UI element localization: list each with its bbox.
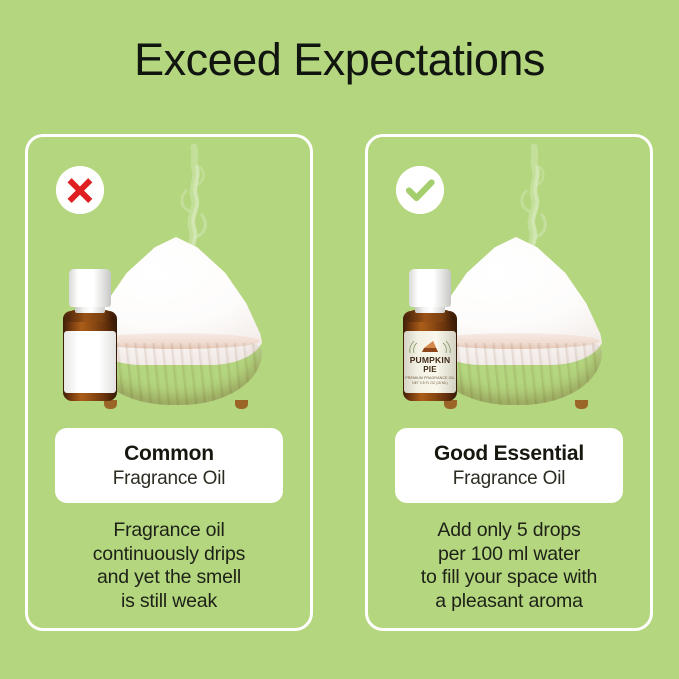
- oil-bottle-pumpkin-pie: PUMPKIN PIE PREMIUM FRAGRANCE OIL NET 0.…: [402, 269, 458, 401]
- plate-title: Good Essential: [434, 441, 584, 467]
- bottle-label-name-line2: PIE: [404, 366, 456, 375]
- product-scene-good-essential: PUMPKIN PIE PREMIUM FRAGRANCE OIL NET 0.…: [368, 137, 650, 417]
- bottle-label-name: PUMPKIN PIE: [404, 356, 456, 374]
- product-name-plate-common: Common Fragrance Oil: [55, 428, 283, 503]
- description-line: to fill your space with: [376, 566, 642, 590]
- poster: Exceed Expectations: [0, 0, 679, 679]
- bottle-label-blank: [64, 331, 116, 393]
- product-name-plate-good-essential: Good Essential Fragrance Oil: [395, 428, 623, 503]
- description-line: a pleasant aroma: [376, 590, 642, 614]
- bottle-label-fineprint: PREMIUM FRAGRANCE OIL NET 0.5 FL OZ (15 …: [404, 376, 456, 386]
- description-line: is still weak: [36, 590, 302, 614]
- diffuser-foot: [104, 400, 117, 409]
- description-line: per 100 ml water: [376, 543, 642, 567]
- description-line: Fragrance oil: [36, 519, 302, 543]
- diffuser-foot: [575, 400, 588, 409]
- description-line: continuously drips: [36, 543, 302, 567]
- description-line: Add only 5 drops: [376, 519, 642, 543]
- bottle-label-pumpkin-pie: PUMPKIN PIE PREMIUM FRAGRANCE OIL NET 0.…: [404, 331, 456, 393]
- product-scene-common: [28, 137, 310, 417]
- bottle-label-net: NET 0.5 FL OZ (15 ML): [404, 381, 456, 386]
- page-title: Exceed Expectations: [0, 33, 679, 87]
- diffuser-foot: [444, 400, 457, 409]
- plate-subtitle: Fragrance Oil: [113, 467, 226, 491]
- oil-bottle-common: [62, 269, 118, 401]
- comparison-card-common: Common Fragrance Oil Fragrance oil conti…: [25, 134, 313, 631]
- description-common: Fragrance oil continuously drips and yet…: [36, 519, 302, 613]
- bottle-cap: [69, 269, 111, 307]
- pumpkin-pie-slice-icon: [404, 333, 456, 357]
- bottle-cap: [409, 269, 451, 307]
- plate-title: Common: [124, 441, 214, 467]
- plate-subtitle: Fragrance Oil: [453, 467, 566, 491]
- bottle-label-name-line1: PUMPKIN: [410, 355, 451, 365]
- comparison-card-good-essential: PUMPKIN PIE PREMIUM FRAGRANCE OIL NET 0.…: [365, 134, 653, 631]
- description-good-essential: Add only 5 drops per 100 ml water to fil…: [376, 519, 642, 613]
- diffuser-foot: [235, 400, 248, 409]
- description-line: and yet the smell: [36, 566, 302, 590]
